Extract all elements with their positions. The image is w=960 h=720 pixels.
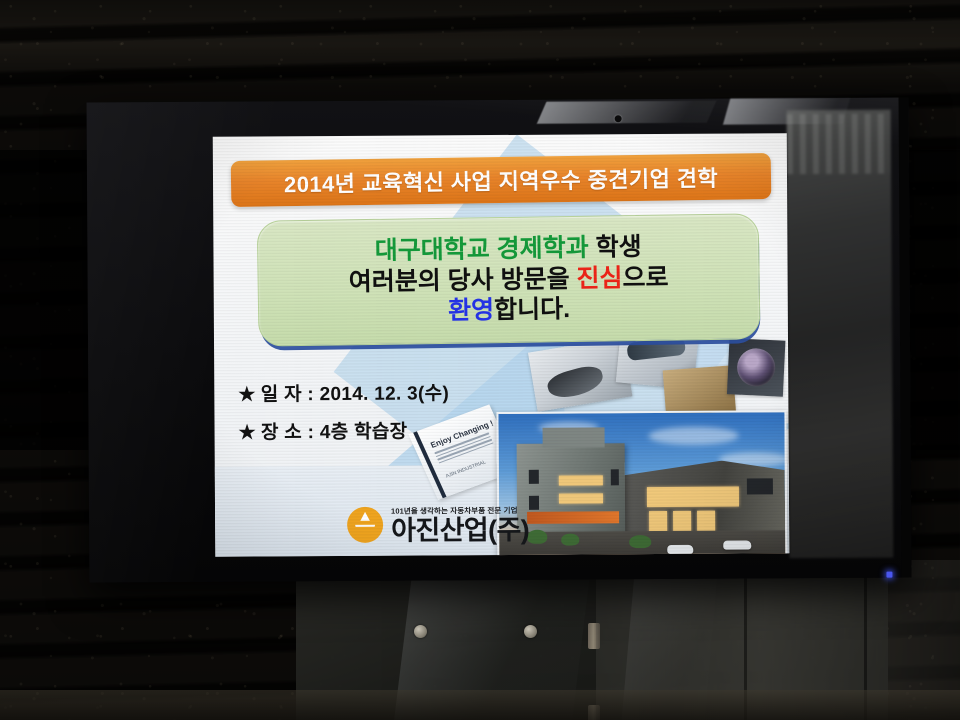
detail-value-place: 4층 학습장 [320, 422, 408, 444]
building-photo [496, 410, 787, 556]
welcome-line-3-seg-2: 합니다. [494, 295, 570, 324]
company-name: 아진산업(주) [391, 517, 529, 545]
company-logo-text: 101년을 생각하는 자동차부품 전문 기업 아진산업(주) [391, 506, 529, 544]
presentation-slide: Enjoy Changing ! AJIN INDUSTRIAL 2014년 교… [213, 133, 790, 556]
photo-tree-2 [561, 534, 579, 546]
photo-window-4 [697, 511, 715, 533]
photo-window-3 [673, 511, 691, 533]
power-led-indicator [886, 572, 892, 578]
ajin-logo-mark-icon [347, 507, 383, 543]
welcome-line-2-seg-3: 으로 [622, 263, 668, 292]
product-photo-lens [727, 338, 786, 397]
photo-window-2 [649, 511, 667, 533]
brochure-footer-text: AJIN INDUSTRIAL [445, 459, 487, 479]
floor-strip [0, 690, 960, 720]
door-fixture-right [524, 625, 537, 638]
logo-inner-bar [352, 521, 378, 525]
photo-window-dark-4 [611, 469, 619, 485]
welcome-line-2-seg-1: 여러분의 당사 방문을 [349, 265, 577, 296]
company-logo: 101년을 생각하는 자동차부품 전문 기업 아진산업(주) [347, 506, 529, 545]
bezel-right-reflection [787, 110, 894, 559]
welcome-line-1-seg-2: 학생 [595, 233, 641, 262]
welcome-line-3-seg-1: 환영 [448, 296, 494, 325]
detail-row-date: ★일 자 : 2014. 12. 3(수) [238, 378, 449, 406]
bezel-reflection-a [537, 101, 717, 124]
welcome-line-1: 대구대학교 경제학과 학생 [375, 233, 642, 265]
photo-window-band-2 [559, 475, 603, 485]
wall-mounted-monitor[interactable]: Enjoy Changing ! AJIN INDUSTRIAL 2014년 교… [87, 97, 912, 582]
photo-tree-3 [629, 535, 651, 548]
welcome-line-3: 환영합니다. [448, 295, 570, 325]
company-tagline: 101년을 생각하는 자동차부품 전문 기업 [391, 506, 529, 514]
door-fixture-left [414, 625, 427, 638]
welcome-line-1-seg-1: 대구대학교 경제학과 [375, 234, 596, 265]
photo-tree-1 [527, 530, 547, 544]
star-icon-date: ★ [238, 384, 255, 405]
slide-title-banner: 2014년 교육혁신 사업 지역우수 중견기업 견학 [231, 153, 772, 207]
star-icon-place: ★ [238, 422, 255, 443]
detail-value-date: 2014. 12. 3(수) [320, 383, 450, 405]
photo-car-1 [667, 545, 693, 554]
photo-building-left-top [543, 427, 605, 447]
photo-window-dark-3 [529, 496, 539, 510]
event-details: ★일 자 : 2014. 12. 3(수) ★장 소 : 4층 학습장 [238, 378, 449, 444]
welcome-line-2: 여러분의 당사 방문을 진심으로 [349, 263, 669, 296]
welcome-line-2-seg-2: 진심 [576, 264, 622, 293]
bezel-reflection-dot [615, 115, 622, 122]
product-photo-wood [663, 365, 736, 416]
photo-car-2 [723, 540, 751, 549]
photo-window-dark-1 [747, 478, 773, 494]
slide-title-text: 2014년 교육혁신 사업 지역우수 중견기업 견학 [284, 161, 718, 199]
welcome-box: 대구대학교 경제학과 학생 여러분의 당사 방문을 진심으로 환영합니다. [257, 213, 761, 346]
photo-window-band-3 [559, 493, 603, 503]
photo-orange-accent [527, 511, 619, 524]
bezel-light-stripes [787, 114, 891, 175]
detail-label-place: 장 소 : [261, 422, 314, 443]
detail-row-place: ★장 소 : 4층 학습장 [238, 416, 449, 444]
photo-scene: Enjoy Changing ! AJIN INDUSTRIAL 2014년 교… [0, 0, 960, 720]
detail-label-date: 일 자 : [261, 384, 314, 405]
photo-window-dark-2 [529, 470, 539, 484]
photo-window-band-1 [647, 487, 739, 508]
